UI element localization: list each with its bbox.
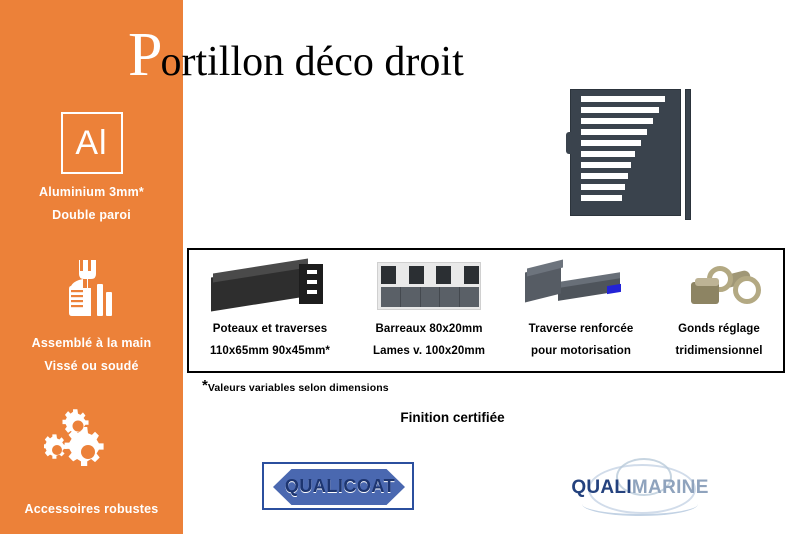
qualimarine-logo-text-secondary: MARINE <box>632 477 709 498</box>
page-title: P ortillon déco droit <box>128 24 464 86</box>
gate-slat <box>581 173 628 179</box>
aluminium-icon-label: Al <box>75 126 107 160</box>
sidebar-feature-assembly-line1: Assemblé à la main <box>0 337 183 350</box>
sidebar-feature-aluminium-line1: Aluminium 3mm* <box>0 186 183 199</box>
qualicoat-logo-text: QUALICOAT <box>264 464 416 508</box>
qualicoat-logo: QUALICOAT <box>262 462 414 510</box>
hand-wrench-icon <box>0 258 183 325</box>
reinforced-crossbar-icon <box>507 254 655 316</box>
sidebar-feature-assembly: Assemblé à la main Vissé ou soudé <box>0 258 183 372</box>
qualimarine-logo: QUALIMARINE <box>560 468 720 510</box>
gate-slat <box>581 118 653 124</box>
feature-item-crossbar-caption2: pour motorisation <box>507 346 655 358</box>
sidebar-feature-aluminium-line2: Double paroi <box>0 209 183 222</box>
feature-item-bars-caption1: Barreaux 80x20mm <box>351 324 507 336</box>
gate-illustration <box>566 89 691 220</box>
feature-item-hinge: Gonds réglage tridimensionnel <box>655 250 783 371</box>
feature-item-crossbar: Traverse renforcée pour motorisation <box>507 250 655 371</box>
gate-slat <box>581 162 631 168</box>
page-title-capital: P <box>128 24 162 86</box>
footnote-text: Valeurs variables selon dimensions <box>208 382 389 394</box>
certification-heading: Finition certifiée <box>0 409 800 427</box>
gate-slat <box>581 184 625 190</box>
bars-slats-icon <box>351 254 507 316</box>
sidebar-feature-assembly-line2: Vissé ou soudé <box>0 360 183 373</box>
qualimarine-logo-text-primary: QUALI <box>571 477 632 498</box>
gate-slat <box>581 129 647 135</box>
sidebar-feature-accessories-line1: Accessoires robustes <box>0 503 183 516</box>
post-profile-icon <box>189 254 351 316</box>
feature-item-bars-caption2: Lames v. 100x20mm <box>351 346 507 358</box>
feature-item-posts-caption2: 110x65mm 90x45mm* <box>189 346 351 358</box>
gate-slat <box>581 107 659 113</box>
page-title-rest: ortillon déco droit <box>160 41 463 83</box>
product-sheet: Al Aluminium 3mm* Double paroi As <box>0 0 800 534</box>
feature-item-hinge-caption2: tridimensionnel <box>655 346 783 358</box>
feature-item-posts: Poteaux et traverses 110x65mm 90x45mm* <box>189 250 351 371</box>
feature-box: Poteaux et traverses 110x65mm 90x45mm* <box>187 248 785 373</box>
gate-frame <box>570 89 681 216</box>
gate-slat <box>581 140 641 146</box>
gate-slat <box>581 96 665 102</box>
gate-slat <box>581 151 635 157</box>
feature-item-hinge-caption1: Gonds réglage <box>655 324 783 336</box>
sidebar-feature-aluminium: Al Aluminium 3mm* Double paroi <box>0 112 183 221</box>
feature-item-posts-caption1: Poteaux et traverses <box>189 324 351 336</box>
gate-post <box>685 89 691 220</box>
gate-slat <box>581 195 622 201</box>
certification-heading-text: Finition certifiée <box>400 410 504 425</box>
gate-handle <box>566 132 573 154</box>
aluminium-square-icon: Al <box>61 112 123 174</box>
feature-item-bars: Barreaux 80x20mm Lames v. 100x20mm <box>351 250 507 371</box>
hinge-icon <box>655 254 783 316</box>
qualimarine-logo-text: QUALIMARINE <box>560 477 720 499</box>
feature-item-crossbar-caption1: Traverse renforcée <box>507 324 655 336</box>
footnote: *Valeurs variables selon dimensions <box>202 378 389 396</box>
